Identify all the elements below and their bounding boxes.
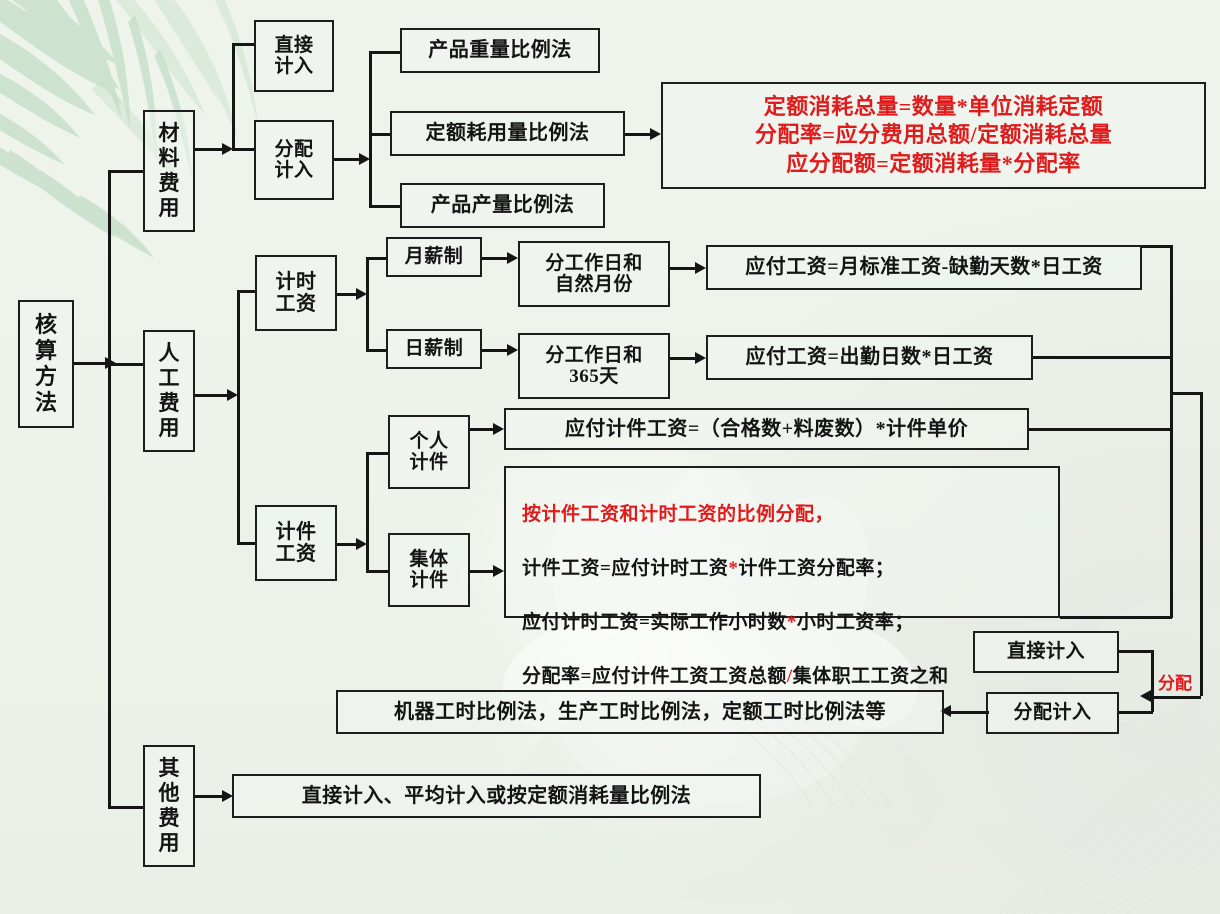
connector-quota-to-formula bbox=[625, 133, 653, 136]
collective-formula-line-1: 计件工资=应付计时工资*计件工资分配率； bbox=[522, 556, 949, 583]
spine-vertical bbox=[108, 170, 111, 808]
node-other-cost[interactable]: 其 他 费 用 bbox=[143, 745, 195, 867]
collective-formula-header: 按计件工资和计时工资的比例分配， bbox=[522, 502, 949, 529]
arrow-individual-formula bbox=[493, 423, 504, 435]
connector-method-1 bbox=[369, 133, 391, 136]
node-monthly-workday-basis[interactable]: 分工作日和 自然月份 bbox=[518, 241, 670, 307]
node-material-cost[interactable]: 材 料 费 用 bbox=[143, 110, 195, 232]
node-labor-cost[interactable]: 人 工 费 用 bbox=[143, 330, 195, 452]
box-overhead-allocation-methods: 机器工时比例法，生产工时比例法，定额工时比例法等 bbox=[336, 690, 944, 734]
node-daily-salary-system[interactable]: 日薪制 bbox=[386, 329, 482, 369]
bus-into-overhead bbox=[1152, 696, 1201, 699]
box-other-cost-methods: 直接计入、平均计入或按定额消耗量比例法 bbox=[232, 774, 761, 818]
node-monthly-salary-system[interactable]: 月薪制 bbox=[386, 237, 482, 277]
connector-material-out bbox=[195, 148, 225, 151]
connector-labor-time bbox=[237, 290, 256, 293]
connector-spine-to-other bbox=[108, 806, 145, 809]
connector-daily-to-basis bbox=[482, 349, 510, 352]
collective-formula-line-3: 分配率=应付计件工资工资总额/集体职工工资之和 bbox=[522, 664, 949, 691]
node-time-based-wage[interactable]: 计时 工资 bbox=[255, 255, 337, 331]
bracket-piece-wage bbox=[366, 452, 369, 570]
node-method-product-output[interactable]: 产品产量比例法 bbox=[400, 183, 605, 228]
node-individual-piece-rate[interactable]: 个人 计件 bbox=[388, 415, 470, 489]
node-method-product-weight[interactable]: 产品重量比例法 bbox=[400, 28, 600, 73]
bus-top-rail bbox=[1170, 392, 1203, 395]
box-daily-wage-formula: 应付工资=出勤日数*日工资 bbox=[706, 335, 1033, 380]
bus-from-daily-formula bbox=[1033, 356, 1172, 359]
connector-daily bbox=[366, 349, 387, 352]
arrow-daily-formula bbox=[695, 352, 706, 364]
connector-overhead-to-methods bbox=[951, 711, 989, 714]
connector-spine-to-material bbox=[108, 170, 145, 173]
bus-from-collective-formula bbox=[1060, 616, 1172, 619]
connector-spine-to-labor bbox=[108, 363, 145, 366]
node-piece-rate-wage[interactable]: 计件 工资 bbox=[255, 505, 337, 581]
bus-from-monthly-formula bbox=[1142, 245, 1172, 248]
connector-monthly-to-basis bbox=[482, 257, 510, 260]
box-collective-piece-formula: 按计件工资和计时工资的比例分配， 计件工资=应付计时工资*计件工资分配率； 应付… bbox=[504, 466, 1060, 618]
connector-monthly-basis-to-formula bbox=[670, 267, 698, 270]
arrow-into-overhead bbox=[1140, 690, 1151, 702]
node-collective-piece-rate[interactable]: 集体 计件 bbox=[388, 533, 470, 607]
formula-line-3: 应分配额=定额消耗量*分配率 bbox=[786, 150, 1081, 178]
node-overhead-direct-entry[interactable]: 直接计入 bbox=[973, 631, 1119, 673]
bracket-labor bbox=[237, 290, 240, 542]
connector-overhead-direct-right bbox=[1119, 650, 1153, 653]
connector-monthly bbox=[366, 257, 387, 260]
arrow-monthly-to-basis bbox=[507, 252, 518, 264]
node-method-quota-consumption[interactable]: 定额耗用量比例法 bbox=[390, 111, 625, 156]
connector-overhead-allocate-right bbox=[1119, 711, 1153, 714]
node-overhead-allocate-entry[interactable]: 分配计入 bbox=[986, 692, 1119, 734]
connector-collective bbox=[366, 570, 389, 573]
arrow-daily-to-basis bbox=[507, 344, 518, 356]
node-material-direct-entry[interactable]: 直接 计入 bbox=[254, 20, 334, 92]
formula-line-2: 分配率=应分费用总额/定额消耗总量 bbox=[755, 121, 1112, 149]
bus-vertical-lower bbox=[1170, 428, 1173, 618]
arrow-collective-formula bbox=[493, 565, 504, 577]
connector-material-allocate bbox=[232, 148, 255, 151]
arrow-quota-to-formula bbox=[650, 128, 661, 140]
box-monthly-wage-formula: 应付工资=月标准工资-缺勤天数*日工资 bbox=[706, 245, 1142, 290]
node-material-allocate-entry[interactable]: 分配 计入 bbox=[254, 120, 334, 200]
connector-method-2 bbox=[369, 205, 401, 208]
diagram-canvas: 核 算 方 法 材 料 费 用 人 工 费 用 其 他 费 用 直接 计入 分配… bbox=[0, 0, 1220, 914]
connector-individual bbox=[366, 452, 389, 455]
bracket-material bbox=[232, 43, 235, 151]
arrow-monthly-formula bbox=[695, 262, 706, 274]
connector-labor-piece bbox=[237, 542, 256, 545]
connector-daily-basis-to-formula bbox=[670, 357, 698, 360]
box-individual-piece-formula: 应付计件工资=（合格数+料废数）*计件单价 bbox=[504, 408, 1029, 450]
bracket-material-methods bbox=[369, 51, 372, 207]
bus-from-individual-formula bbox=[1029, 428, 1172, 431]
node-root-accounting-method[interactable]: 核 算 方 法 bbox=[18, 300, 74, 428]
node-daily-workday-basis[interactable]: 分工作日和 365天 bbox=[518, 333, 670, 399]
box-material-allocation-formulas: 定额消耗总量=数量*单位消耗定额 分配率=应分费用总额/定额消耗总量 应分配额=… bbox=[661, 82, 1206, 189]
bus-far-right-vertical bbox=[1200, 392, 1203, 696]
connector-material-direct bbox=[232, 43, 255, 46]
collective-formula-line-2: 应付计时工资=实际工作小时数*小时工资率； bbox=[522, 610, 949, 637]
connector-method-0 bbox=[369, 51, 401, 54]
bus-vertical-upper bbox=[1170, 245, 1173, 358]
bracket-time-wage bbox=[366, 257, 369, 349]
label-allocation-red-tag: 分配 bbox=[1158, 669, 1192, 694]
connector-allocate-out bbox=[334, 158, 362, 161]
connector-other-out bbox=[195, 795, 225, 798]
connector-root-to-spine bbox=[74, 362, 108, 365]
connector-overhead-rail bbox=[1151, 650, 1154, 712]
formula-line-1: 定额消耗总量=数量*单位消耗定额 bbox=[764, 93, 1104, 121]
connector-labor-out bbox=[195, 394, 230, 397]
